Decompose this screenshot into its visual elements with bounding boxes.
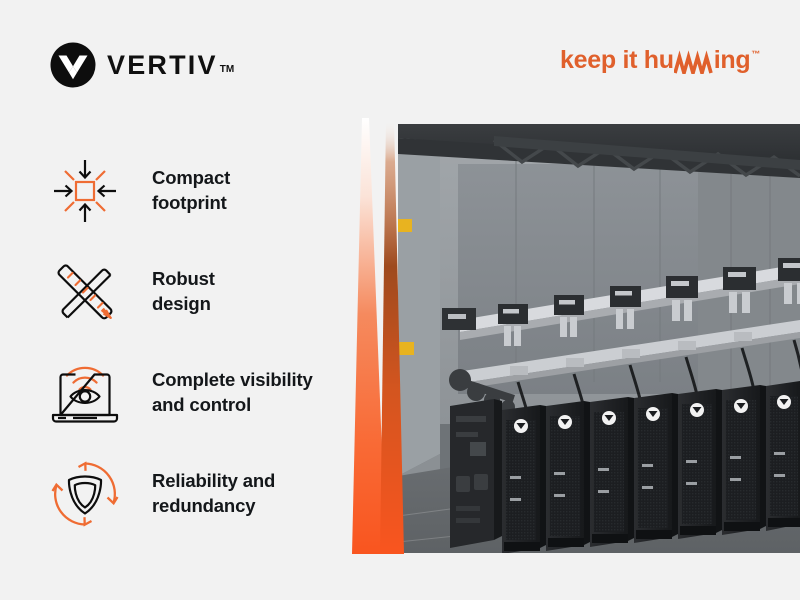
tagline-after: ing [714,48,751,73]
wordmark-text: VERTIV [107,52,218,79]
ruler-pencil-icon [46,253,124,331]
feature-item: Robust design [46,241,366,342]
vertiv-wordmark: VERTIV TM [107,52,234,79]
feature-item: Compact footprint [46,140,366,241]
laptop-eye-signal-icon [46,354,124,432]
compact-footprint-icon [46,152,124,230]
feature-label: Complete visibility and control [152,368,313,417]
data-center-photo [398,124,800,553]
vertiv-logo-mark [50,42,96,88]
feature-label: Compact footprint [152,166,230,215]
tagline-trademark: ™ [751,50,760,59]
feature-list: Compact footprint [46,140,366,544]
slide-canvas: VERTIV TM keep it hu ing ™ [0,0,800,600]
feature-item: Complete visibility and control [46,342,366,443]
orange-tapered-stripes [338,118,458,554]
vertiv-logo: VERTIV TM [50,42,234,88]
tagline-before: keep it hu [560,48,674,73]
feature-item: Reliability and redundancy [46,443,366,544]
wordmark-trademark: TM [220,64,234,75]
tagline-wave-glyph [674,48,714,79]
feature-label: Robust design [152,267,215,316]
shield-cycle-icon [46,455,124,533]
feature-label: Reliability and redundancy [152,469,275,518]
tagline: keep it hu ing ™ [560,48,760,79]
